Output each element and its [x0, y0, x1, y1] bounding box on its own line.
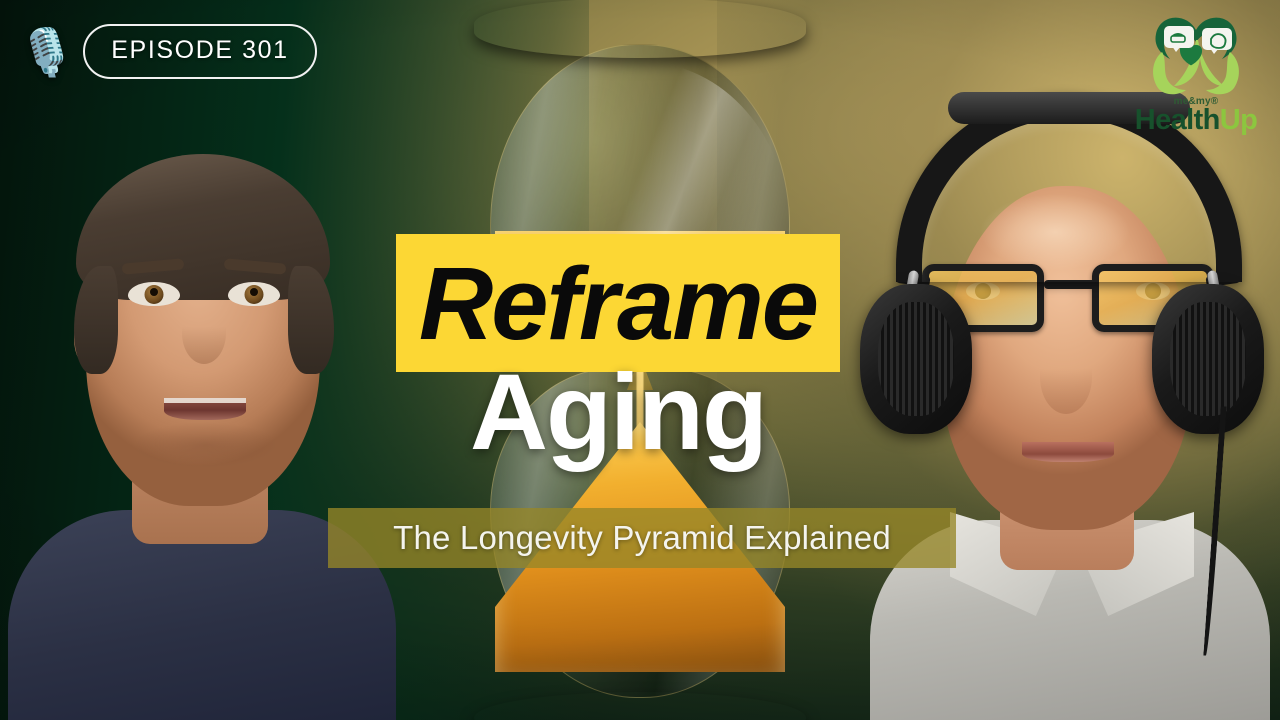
left-person-hair-side-right — [288, 266, 334, 374]
right-person-mouth — [1022, 442, 1114, 462]
title-line-2: Aging — [396, 358, 840, 466]
left-person-pupil-right — [250, 288, 258, 296]
headphones-earcup-pad-left — [878, 302, 954, 416]
left-person-mouth — [164, 398, 246, 420]
subtitle-text: The Longevity Pyramid Explained — [328, 508, 956, 568]
episode-badge: EPISODE 301 — [83, 24, 316, 79]
right-person-nose — [1040, 340, 1092, 414]
left-person-hair-side-left — [74, 266, 118, 374]
studio-microphone-icon: 🎙️ — [18, 29, 75, 75]
brand-logo: me&my® HealthUp — [1126, 6, 1266, 135]
brand-logo-word-up: Up — [1220, 104, 1257, 136]
left-person-eye-left — [128, 282, 180, 306]
left-person-portrait — [0, 100, 412, 720]
left-person-pupil-left — [150, 288, 158, 296]
headphones-earcup-pad-right — [1170, 302, 1246, 416]
heart-hands-health-icon — [1140, 6, 1252, 98]
right-person-portrait — [830, 70, 1280, 720]
left-person-eye-right — [228, 282, 280, 306]
brand-logo-wordmark: HealthUp — [1126, 107, 1266, 135]
episode-badge-group: 🎙️ EPISODE 301 — [18, 24, 317, 79]
thumbnail-canvas: 🎙️ EPISODE 301 me&my® HealthUp Reframe A… — [0, 0, 1280, 720]
brand-logo-word-health: Health — [1135, 104, 1220, 136]
left-person-nose — [182, 302, 226, 364]
headphones-earcup-left — [860, 284, 972, 434]
left-person-chin-shadow — [132, 422, 278, 468]
headphones-earcup-right — [1152, 284, 1264, 434]
